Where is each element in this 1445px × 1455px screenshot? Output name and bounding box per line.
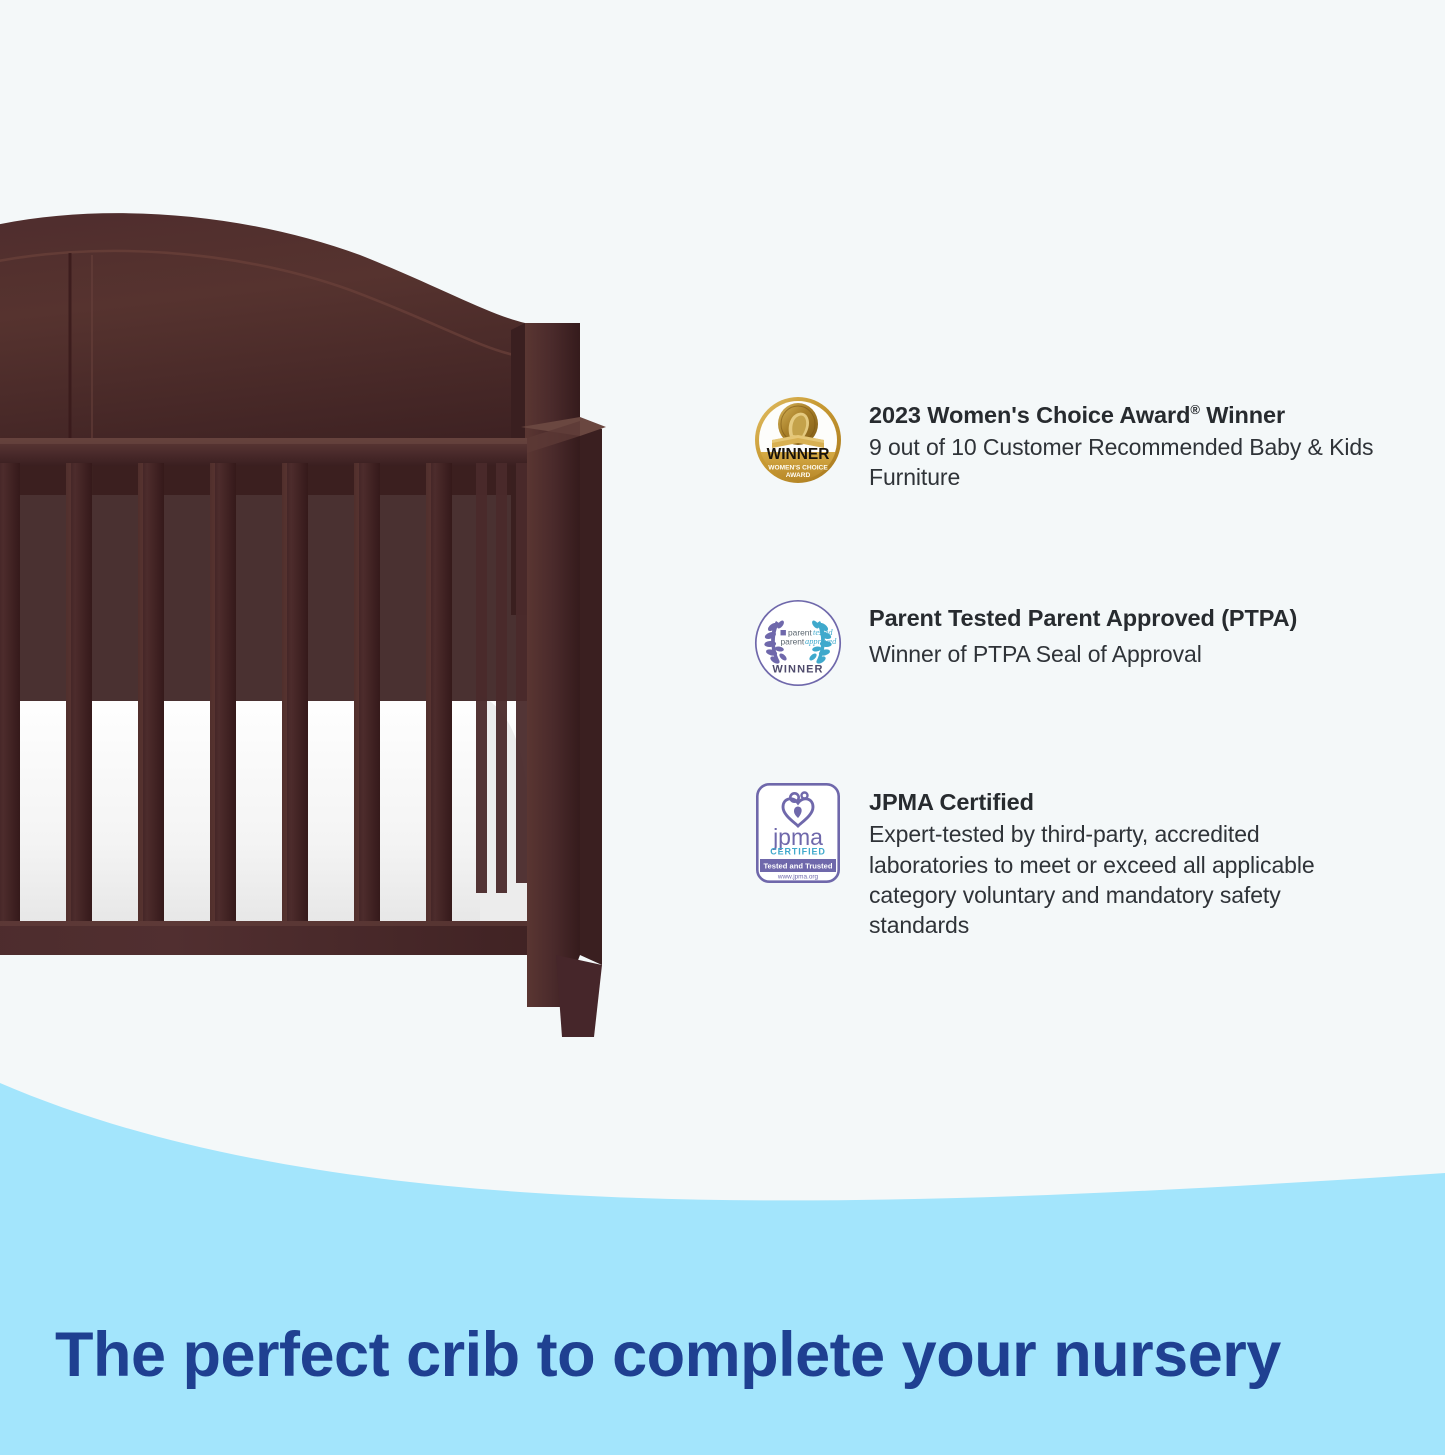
award-text-block: Parent Tested Parent Approved (PTPA) Win… [869,599,1377,669]
award-description: 9 out of 10 Customer Recommended Baby & … [869,432,1377,493]
badge-certified-label: CERTIFIED [770,847,826,857]
award-description: Winner of PTPA Seal of Approval [869,639,1377,669]
badge-line1-label: WOMEN'S CHOICE [768,465,828,472]
award-text-block: JPMA Certified Expert-tested by third-pa… [869,783,1377,940]
badge-winner-label: WINNER [772,664,823,676]
badge-approved-label: approved [805,638,837,647]
registered-mark: ® [1190,402,1199,417]
bottom-wave-band [0,1040,1445,1455]
womens-choice-award-badge: WINNER WOMEN'S CHOICE AWARD [752,396,844,484]
product-feature-panel: WINNER WOMEN'S CHOICE AWARD 2023 Women's… [0,0,1445,1455]
award-title-main: 2023 Women's Choice Award [869,402,1190,428]
badge-url-label: www.jpma.org [777,874,819,881]
crib-product-image [0,195,690,1040]
award-title: JPMA Certified [869,789,1377,817]
award-item-womens-choice: WINNER WOMEN'S CHOICE AWARD 2023 Women's… [752,396,1377,492]
badge-line2-label: AWARD [786,472,811,479]
award-title: 2023 Women's Choice Award® Winner [869,402,1377,430]
award-description: Expert-tested by third-party, accredited… [869,819,1377,940]
badge-tagline-label: Tested and Trusted [763,862,832,871]
awards-list: WINNER WOMEN'S CHOICE AWARD 2023 Women's… [752,396,1377,941]
award-text-block: 2023 Women's Choice Award® Winner 9 out … [869,396,1377,492]
badge-winner-label: WINNER [767,446,830,463]
wave-shape [0,1083,1445,1455]
badge-parent-approved-label: parent [781,637,805,647]
page-headline: The perfect crib to complete your nurser… [55,1322,1255,1388]
award-item-jpma: jpma CERTIFIED Tested and Trusted www.jp… [752,783,1377,940]
ptpa-seal-badge: parent tested parent approved WINNER [752,599,844,687]
award-title-tail: Winner [1200,402,1285,428]
badge-tested-label: tested [813,628,833,637]
award-item-ptpa: parent tested parent approved WINNER Par… [752,599,1377,687]
award-title: Parent Tested Parent Approved (PTPA) [869,605,1377,633]
jpma-certified-badge: jpma CERTIFIED Tested and Trusted www.jp… [752,783,844,883]
